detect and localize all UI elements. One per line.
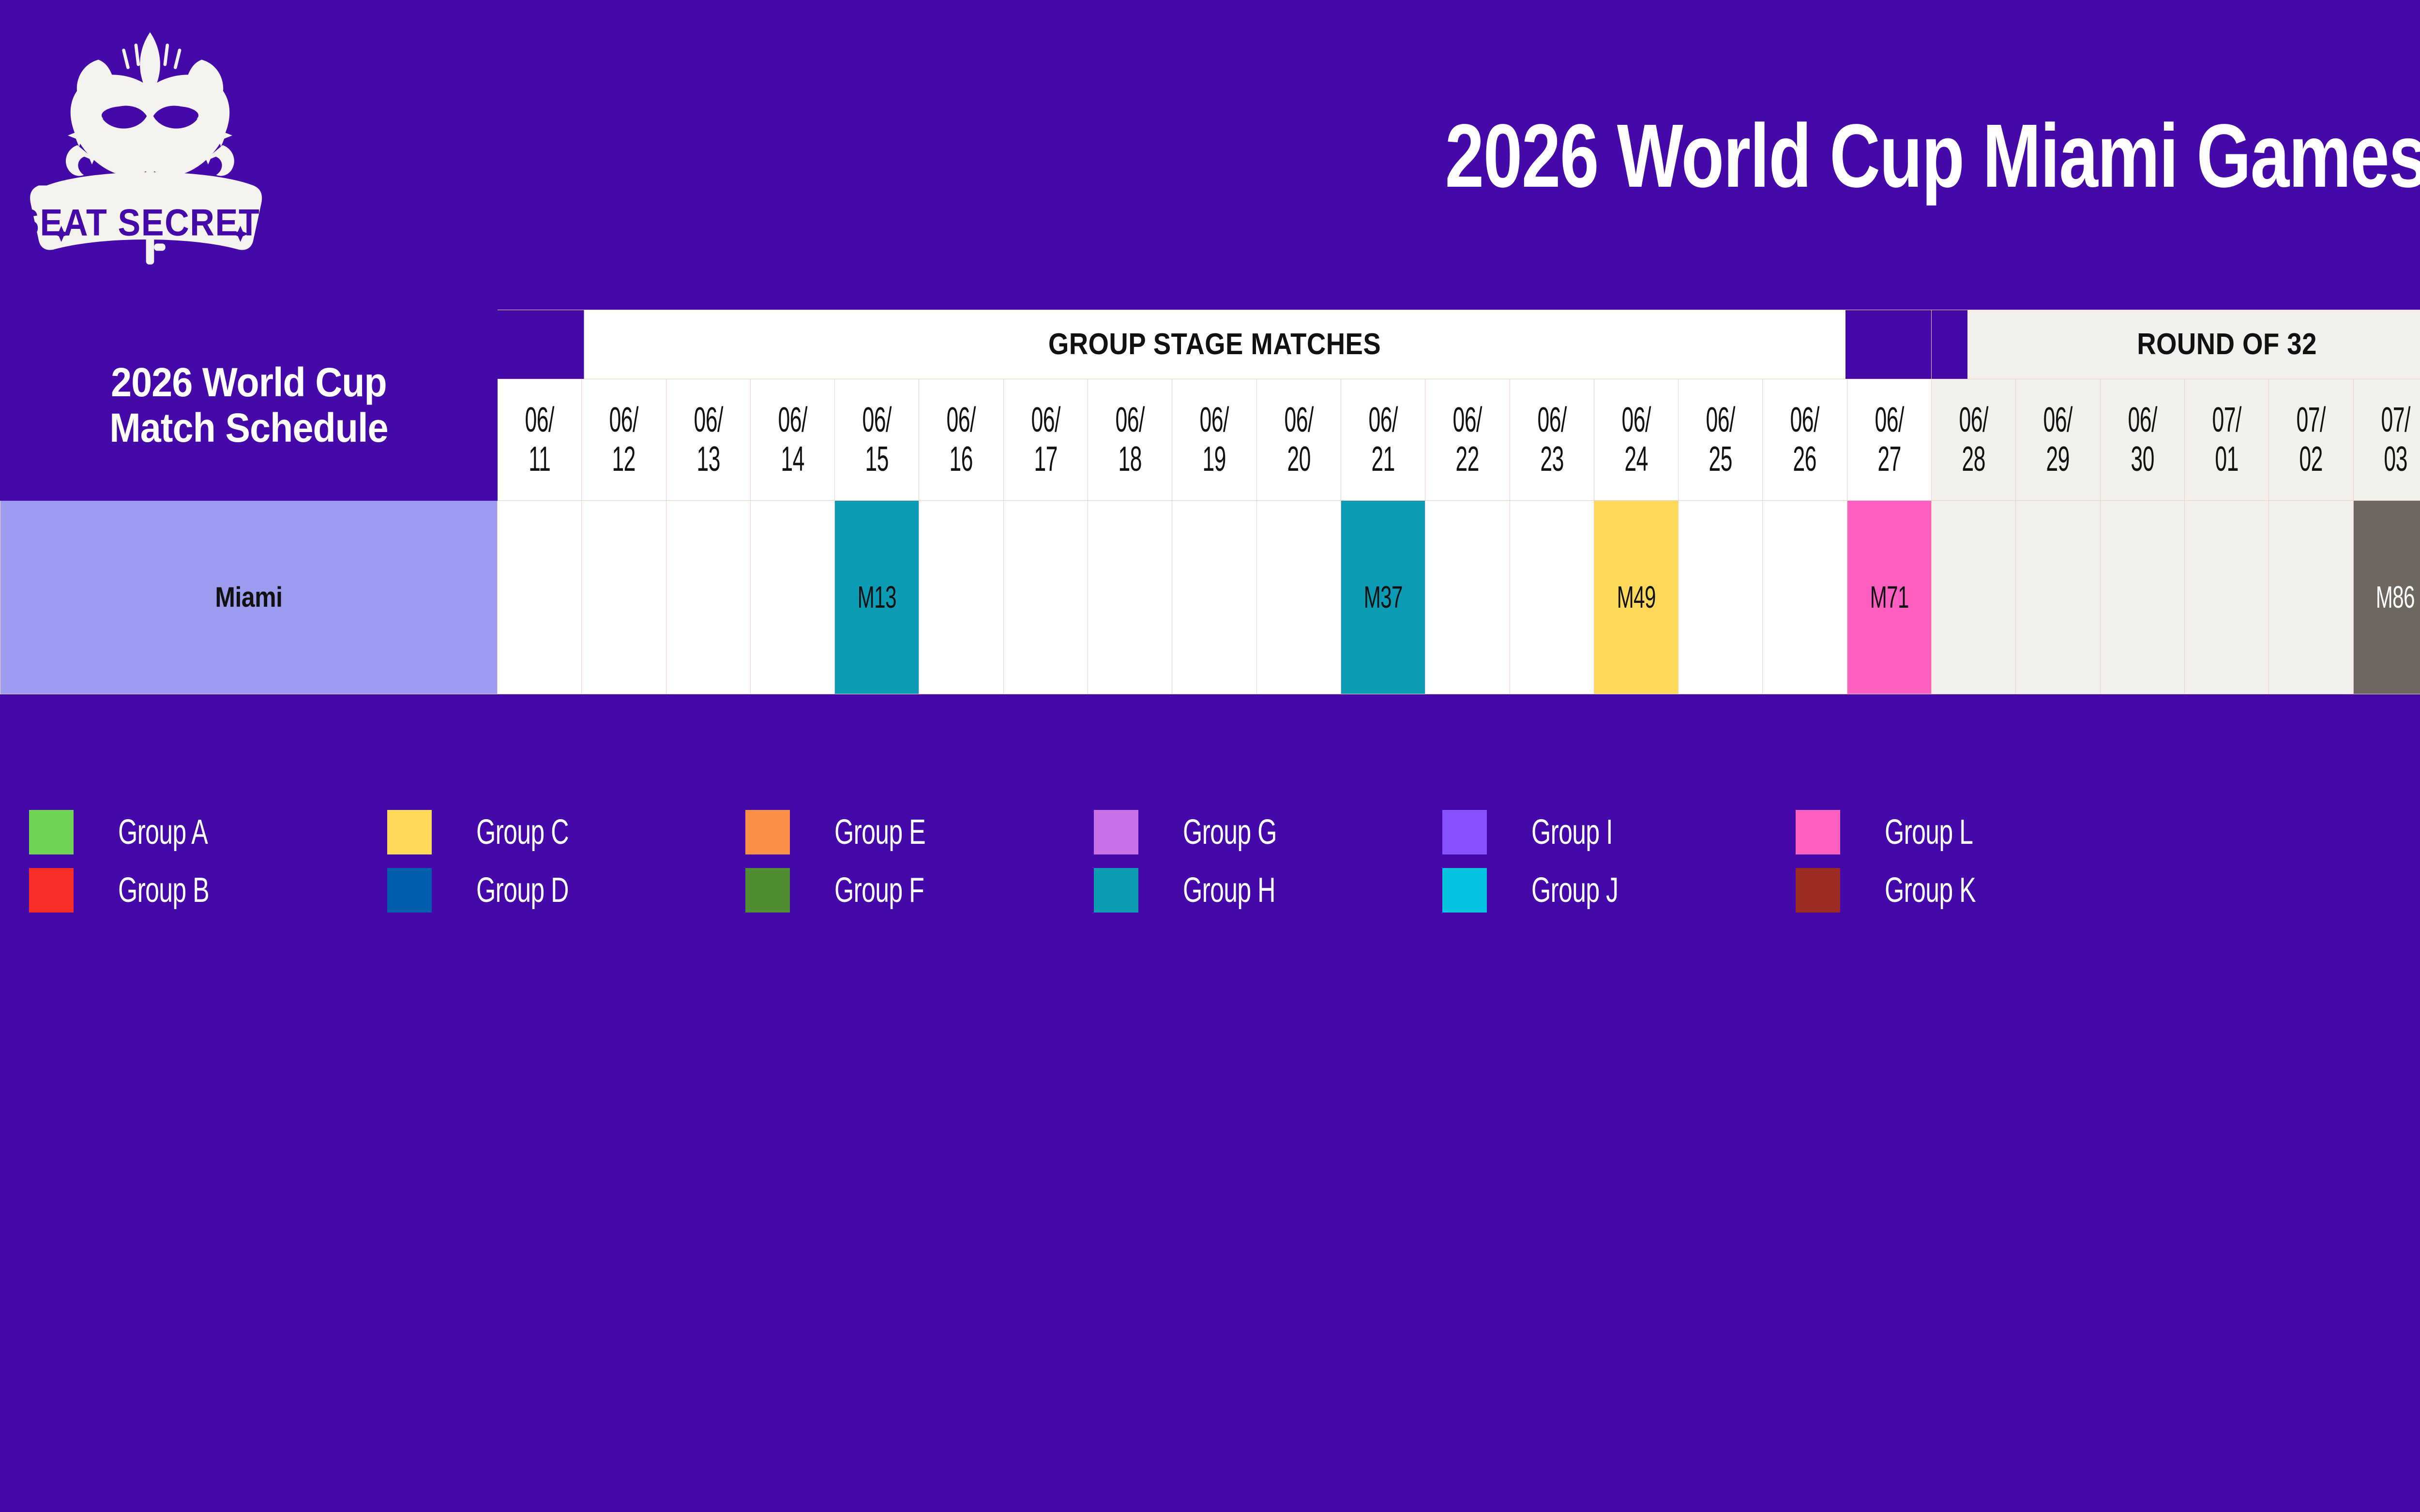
legend-swatch-group-f xyxy=(745,868,790,913)
legend-column-3: Group EGroup F xyxy=(745,803,961,919)
legend-label: Group K xyxy=(1885,870,1976,910)
date-header-06-22: 06/22 xyxy=(1425,379,1510,500)
stage-header-group-stage-matches: GROUP STAGE MATCHES xyxy=(583,310,1845,379)
date-header-06-18: 06/18 xyxy=(1088,379,1172,500)
date-header-07-03: 07/03 xyxy=(2353,379,2420,500)
legend-swatch-group-k xyxy=(1796,868,1840,913)
date-header-06-29: 06/29 xyxy=(2016,379,2100,500)
date-header-06-19: 06/19 xyxy=(1172,379,1256,500)
group-color-legend: Group AGroup BGroup CGroup DGroup EGroup… xyxy=(0,803,2420,929)
legend-label: Group L xyxy=(1885,812,1973,852)
legend-label: Group I xyxy=(1531,812,1613,852)
legend-label: Group C xyxy=(476,812,569,852)
date-header-06-24: 06/24 xyxy=(1594,379,1678,500)
empty-cell-06-13 xyxy=(666,500,750,694)
legend-swatch-group-c xyxy=(387,810,432,854)
stage-header-round-of-32: ROUND OF 32 xyxy=(1967,310,2420,379)
match-code-label: M71 xyxy=(1870,579,1908,615)
empty-cell-06-30 xyxy=(2100,500,2184,694)
corner-title-line-2: Match Schedule xyxy=(29,405,469,450)
match-cell-m37[interactable]: M37 xyxy=(1341,500,1425,694)
date-header-06-11: 06/11 xyxy=(498,379,582,500)
legend-swatch-group-i xyxy=(1442,810,1487,854)
date-header-06-16: 06/16 xyxy=(919,379,1003,500)
empty-cell-06-23 xyxy=(1510,500,1594,694)
legend-column-2: Group CGroup D xyxy=(387,803,605,919)
legend-swatch-group-j xyxy=(1442,868,1487,913)
date-header-07-02: 07/02 xyxy=(2269,379,2353,500)
legend-item-group-j[interactable]: Group J xyxy=(1442,861,1652,919)
empty-cell-06-22 xyxy=(1425,500,1510,694)
legend-label: Group D xyxy=(476,870,569,910)
empty-cell-06-25 xyxy=(1679,500,1763,694)
legend-item-group-k[interactable]: Group K xyxy=(1796,861,2011,919)
empty-cell-06-18 xyxy=(1088,500,1172,694)
date-header-07-01: 07/01 xyxy=(2184,379,2269,500)
legend-column-4: Group GGroup H xyxy=(1094,803,1313,919)
empty-cell-06-20 xyxy=(1256,500,1341,694)
legend-column-6: Group LGroup K xyxy=(1796,803,2011,919)
empty-cell-06-14 xyxy=(750,500,834,694)
match-cell-m49[interactable]: M49 xyxy=(1594,500,1678,694)
date-header-06-17: 06/17 xyxy=(1003,379,1088,500)
page-header: SEAT SECRETS 2026 World Cup Miami Games xyxy=(0,0,2420,310)
match-code-label: M49 xyxy=(1617,579,1655,615)
legend-label: Group F xyxy=(834,870,924,910)
empty-cell-06-28 xyxy=(1932,500,2016,694)
empty-cell-06-16 xyxy=(919,500,1003,694)
legend-swatch-group-g xyxy=(1094,810,1138,854)
legend-item-group-d[interactable]: Group D xyxy=(387,861,605,919)
date-header-06-30: 06/30 xyxy=(2100,379,2184,500)
match-code-label: M37 xyxy=(1364,579,1403,615)
legend-label: Group A xyxy=(118,812,208,852)
legend-swatch-group-b xyxy=(29,868,74,913)
legend-label: Group E xyxy=(834,812,925,852)
stage-header-row: 2026 World CupMatch ScheduleGROUP STAGE … xyxy=(0,310,2420,379)
date-header-06-28: 06/28 xyxy=(1932,379,2016,500)
legend-label: Group B xyxy=(118,870,209,910)
legend-swatch-group-e xyxy=(745,810,790,854)
legend-item-group-f[interactable]: Group F xyxy=(745,861,961,919)
match-code-label: M13 xyxy=(858,579,896,615)
page-title: 2026 World Cup Miami Games xyxy=(426,111,2420,201)
match-code-label: M86 xyxy=(2376,579,2415,615)
legend-column-1: Group AGroup B xyxy=(29,803,244,919)
date-header-06-14: 06/14 xyxy=(750,379,834,500)
legend-label: Group J xyxy=(1531,870,1618,910)
legend-item-group-i[interactable]: Group I xyxy=(1442,803,1652,861)
empty-cell-06-26 xyxy=(1763,500,1847,694)
empty-cell-07-01 xyxy=(2184,500,2269,694)
empty-cell-06-17 xyxy=(1003,500,1088,694)
legend-item-group-l[interactable]: Group L xyxy=(1796,803,2011,861)
date-header-06-21: 06/21 xyxy=(1341,379,1425,500)
date-header-06-13: 06/13 xyxy=(666,379,750,500)
legend-label: Group H xyxy=(1183,870,1275,910)
empty-cell-06-19 xyxy=(1172,500,1256,694)
legend-item-group-h[interactable]: Group H xyxy=(1094,861,1313,919)
svg-text:SEAT SECRETS: SEAT SECRETS xyxy=(29,201,271,244)
date-header-06-20: 06/20 xyxy=(1256,379,1341,500)
legend-item-group-e[interactable]: Group E xyxy=(745,803,961,861)
corner-title-line-1: 2026 World Cup xyxy=(29,359,469,405)
match-cell-m86[interactable]: M86 xyxy=(2353,500,2420,694)
legend-label: Group G xyxy=(1183,812,1277,852)
date-header-06-23: 06/23 xyxy=(1510,379,1594,500)
match-schedule-table: 2026 World CupMatch ScheduleGROUP STAGE … xyxy=(0,310,2420,694)
legend-item-group-c[interactable]: Group C xyxy=(387,803,605,861)
legend-swatch-group-h xyxy=(1094,868,1138,913)
date-header-06-12: 06/12 xyxy=(582,379,666,500)
seat-secrets-logo[interactable]: SEAT SECRETS xyxy=(29,10,271,300)
venue-row-miami: MiamiM13M37M49M71M86REST DAYM99REST DAYR… xyxy=(0,500,2420,694)
legend-swatch-group-l xyxy=(1796,810,1840,854)
date-header-06-26: 06/26 xyxy=(1763,379,1847,500)
legend-item-group-b[interactable]: Group B xyxy=(29,861,244,919)
empty-cell-06-29 xyxy=(2016,500,2100,694)
legend-swatch-group-a xyxy=(29,810,74,854)
date-header-06-25: 06/25 xyxy=(1679,379,1763,500)
venue-label-text: Miami xyxy=(215,581,282,614)
table-corner-title: 2026 World CupMatch Schedule xyxy=(0,310,498,501)
empty-cell-07-02 xyxy=(2269,500,2353,694)
legend-item-group-g[interactable]: Group G xyxy=(1094,803,1313,861)
date-header-06-15: 06/15 xyxy=(835,379,919,500)
legend-item-group-a[interactable]: Group A xyxy=(29,803,244,861)
match-cell-m71[interactable]: M71 xyxy=(1847,500,1931,694)
empty-cell-06-12 xyxy=(582,500,666,694)
legend-swatch-group-d xyxy=(387,868,432,913)
match-cell-m13[interactable]: M13 xyxy=(835,500,919,694)
venue-label-miami: Miami xyxy=(0,500,498,694)
legend-column-5: Group IGroup J xyxy=(1442,803,1652,919)
empty-cell-06-11 xyxy=(498,500,582,694)
date-header-06-27: 06/27 xyxy=(1847,379,1931,500)
